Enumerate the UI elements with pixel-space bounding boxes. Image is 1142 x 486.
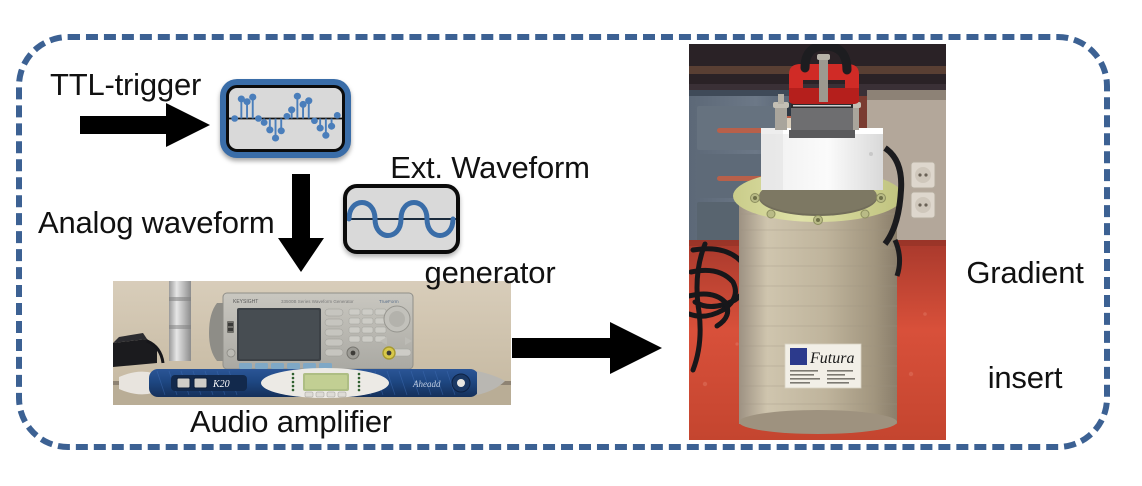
label-ext-waveform-line2: generator — [380, 256, 600, 291]
label-audio-amplifier: Audio amplifier — [190, 405, 392, 440]
arrow-down-icon — [278, 174, 324, 272]
label-gradient-insert-line2: insert — [955, 361, 1095, 396]
label-ttl-trigger: TTL-trigger — [50, 68, 201, 103]
arrow-right-icon — [80, 103, 210, 147]
arrow-ttl-to-generator — [80, 103, 210, 147]
digital-waveform-screen — [226, 85, 345, 152]
digital-stem-waveform-icon — [220, 79, 351, 158]
arrow-generator-to-amplifier — [278, 174, 324, 272]
label-gradient-insert: Gradient insert — [955, 187, 1095, 465]
label-analog-waveform: Analog waveform — [38, 206, 275, 241]
digital-waveform-trace — [229, 88, 342, 149]
label-gradient-insert-line1: Gradient — [955, 256, 1095, 291]
label-ext-waveform-line1: Ext. Waveform — [380, 151, 600, 186]
label-ext-waveform-generator: Ext. Waveform generator — [380, 82, 600, 360]
figure-canvas: KEYSIGHT 33500B Series Waveform Generato… — [0, 0, 1142, 486]
